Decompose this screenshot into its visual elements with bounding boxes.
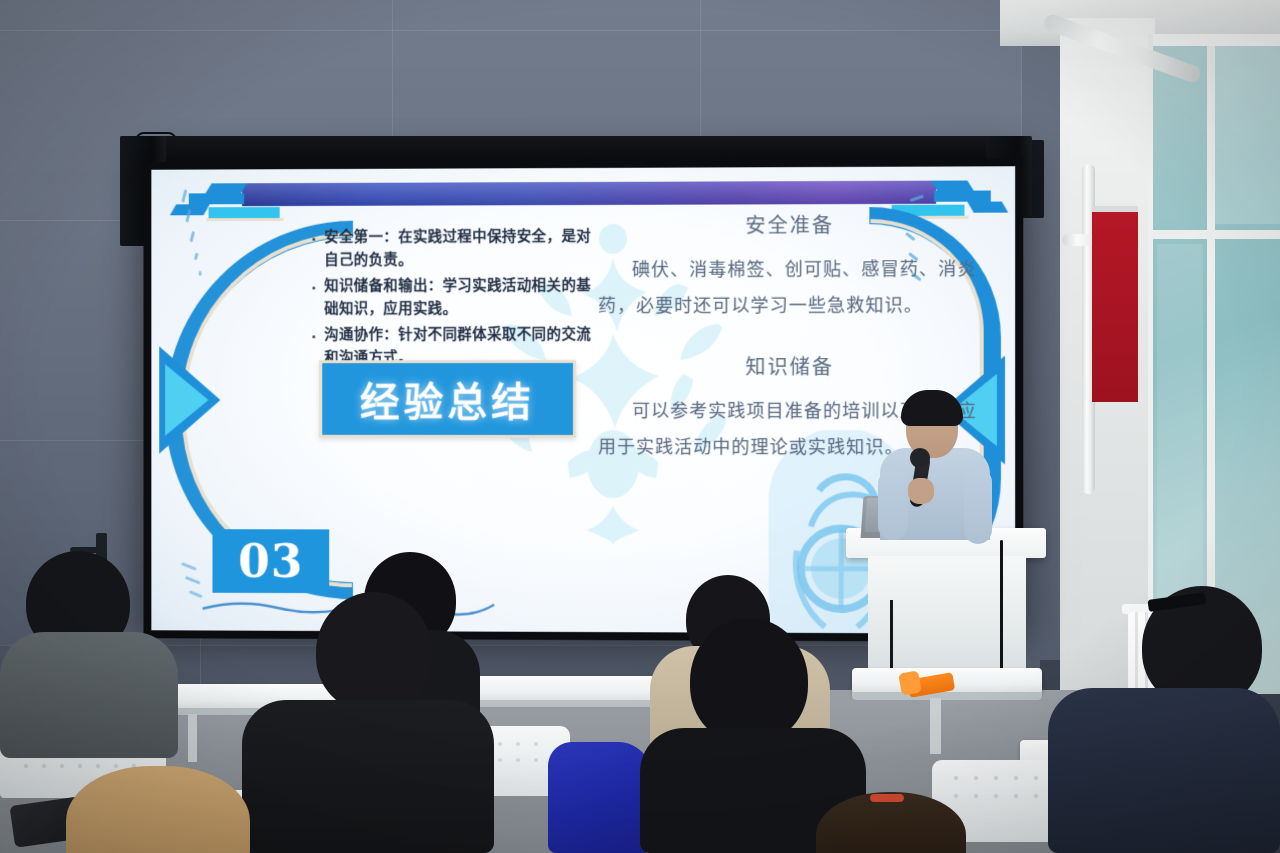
section-body-safety: 碘伏、消毒棉签、创可贴、感冒药、消炎药，必要时还可以学习一些急救知识。 — [598, 252, 983, 325]
slide-title-box: 经验总结 — [319, 360, 576, 438]
tick-mark — [181, 189, 187, 202]
presenter-hand — [908, 478, 934, 504]
cream-accent-line — [207, 218, 284, 221]
classroom-scene: 安全第一：在实践过程中保持安全，是对自己的负责。 知识储备和输出：学习实践活动相… — [0, 0, 1280, 853]
section-number-box: 03 — [212, 529, 329, 593]
hair-tie — [870, 794, 904, 802]
presenter-arm-left — [878, 470, 908, 540]
section-heading-safety: 安全准备 — [598, 209, 983, 239]
tick-mark — [181, 562, 197, 571]
slide-title: 经验总结 — [360, 370, 535, 428]
slide-bullet-list: 安全第一：在实践过程中保持安全，是对自己的负责。 知识储备和输出：学习实践活动相… — [307, 226, 606, 373]
red-banner — [1092, 212, 1138, 402]
tick-mark — [194, 253, 199, 260]
desk-leg — [188, 714, 197, 762]
section-number: 03 — [238, 534, 303, 588]
window-pane — [1215, 44, 1280, 224]
section-heading-knowledge: 知识储备 — [598, 351, 983, 380]
frame-step — [189, 193, 244, 204]
bullet-item: 安全第一：在实践过程中保持安全，是对自己的负责。 — [324, 226, 606, 274]
presenter-arm-right — [964, 468, 992, 544]
frame-step — [931, 181, 974, 191]
frame-step — [934, 191, 991, 202]
window-mullion — [1153, 230, 1280, 239]
attendee-body — [0, 632, 178, 758]
tick-mark — [190, 231, 195, 242]
chevron-left-inner — [165, 364, 208, 436]
wall-tile-seam — [0, 30, 1021, 31]
microphone-head — [910, 448, 930, 468]
attendee-body — [1048, 688, 1280, 853]
desk-leg — [930, 698, 941, 754]
attendee-head — [316, 592, 432, 712]
tick-mark — [199, 271, 202, 276]
tick-mark — [185, 576, 201, 585]
slide-top-band-shading — [242, 181, 936, 207]
bullet-item: 知识储备和输出：学习实践活动相关的基础知识，应用实践。 — [324, 275, 606, 322]
cyan-accent-tab — [209, 207, 280, 218]
attendee-body — [242, 700, 494, 853]
blue-jacket — [548, 742, 652, 853]
frame-step — [205, 183, 247, 193]
desk-edge — [852, 692, 1042, 700]
orange-tool-handle — [898, 670, 922, 695]
attendee-head — [690, 618, 808, 744]
